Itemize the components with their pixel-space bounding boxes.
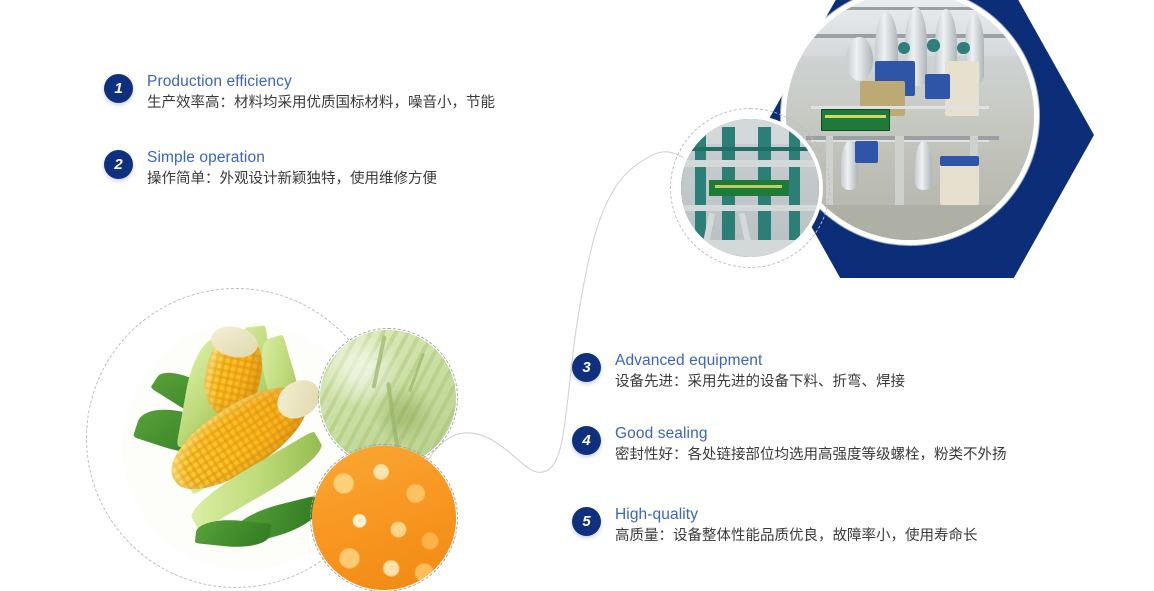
feature-desc-4: 密封性好：各处链接部位均选用高强度等级螺栓，粉类不外扬 <box>615 444 1007 467</box>
feature-desc-3: 设备先进：采用先进的设备下料、折弯、焊接 <box>615 371 905 394</box>
feature-title-5: High-quality <box>615 505 978 525</box>
feature-item-5: 5 High-quality 高质量：设备整体性能品质优良，故障率小，使用寿命长 <box>572 505 978 548</box>
plant-photo-small <box>677 115 823 261</box>
feature-title-2: Simple operation <box>147 148 437 168</box>
feature-title-1: Production efficiency <box>147 72 495 92</box>
feature-title-3: Advanced equipment <box>615 351 905 371</box>
feature-item-2: 2 Simple operation 操作简单：外观设计新颖独特，使用维修方便 <box>104 148 437 191</box>
feature-desc-1: 生产效率高：材料均采用优质国标材料，噪音小，节能 <box>147 92 495 115</box>
feature-badge-5: 5 <box>572 507 601 536</box>
feature-badge-4: 4 <box>572 426 601 455</box>
promo-infographic: 1 Production efficiency 生产效率高：材料均采用优质国标材… <box>0 0 1154 591</box>
feature-badge-3: 3 <box>572 353 601 382</box>
feature-text-3: Advanced equipment 设备先进：采用先进的设备下料、折弯、焊接 <box>615 351 905 394</box>
feature-title-4: Good sealing <box>615 424 1007 444</box>
feature-item-1: 1 Production efficiency 生产效率高：材料均采用优质国标材… <box>104 72 495 115</box>
feature-item-3: 3 Advanced equipment 设备先进：采用先进的设备下料、折弯、焊… <box>572 351 905 394</box>
feature-desc-5: 高质量：设备整体性能品质优良，故障率小，使用寿命长 <box>615 525 978 548</box>
feature-text-4: Good sealing 密封性好：各处链接部位均选用高强度等级螺栓，粉类不外扬 <box>615 424 1007 467</box>
feature-text-1: Production efficiency 生产效率高：材料均采用优质国标材料，… <box>147 72 495 115</box>
feature-text-2: Simple operation 操作简单：外观设计新颖独特，使用维修方便 <box>147 148 437 191</box>
corn-kernels-photo <box>312 446 456 590</box>
feature-badge-1: 1 <box>104 74 133 103</box>
feature-text-5: High-quality 高质量：设备整体性能品质优良，故障率小，使用寿命长 <box>615 505 978 548</box>
feature-badge-2: 2 <box>104 150 133 179</box>
feature-item-4: 4 Good sealing 密封性好：各处链接部位均选用高强度等级螺栓，粉类不… <box>572 424 1007 467</box>
feature-desc-2: 操作简单：外观设计新颖独特，使用维修方便 <box>147 168 437 191</box>
